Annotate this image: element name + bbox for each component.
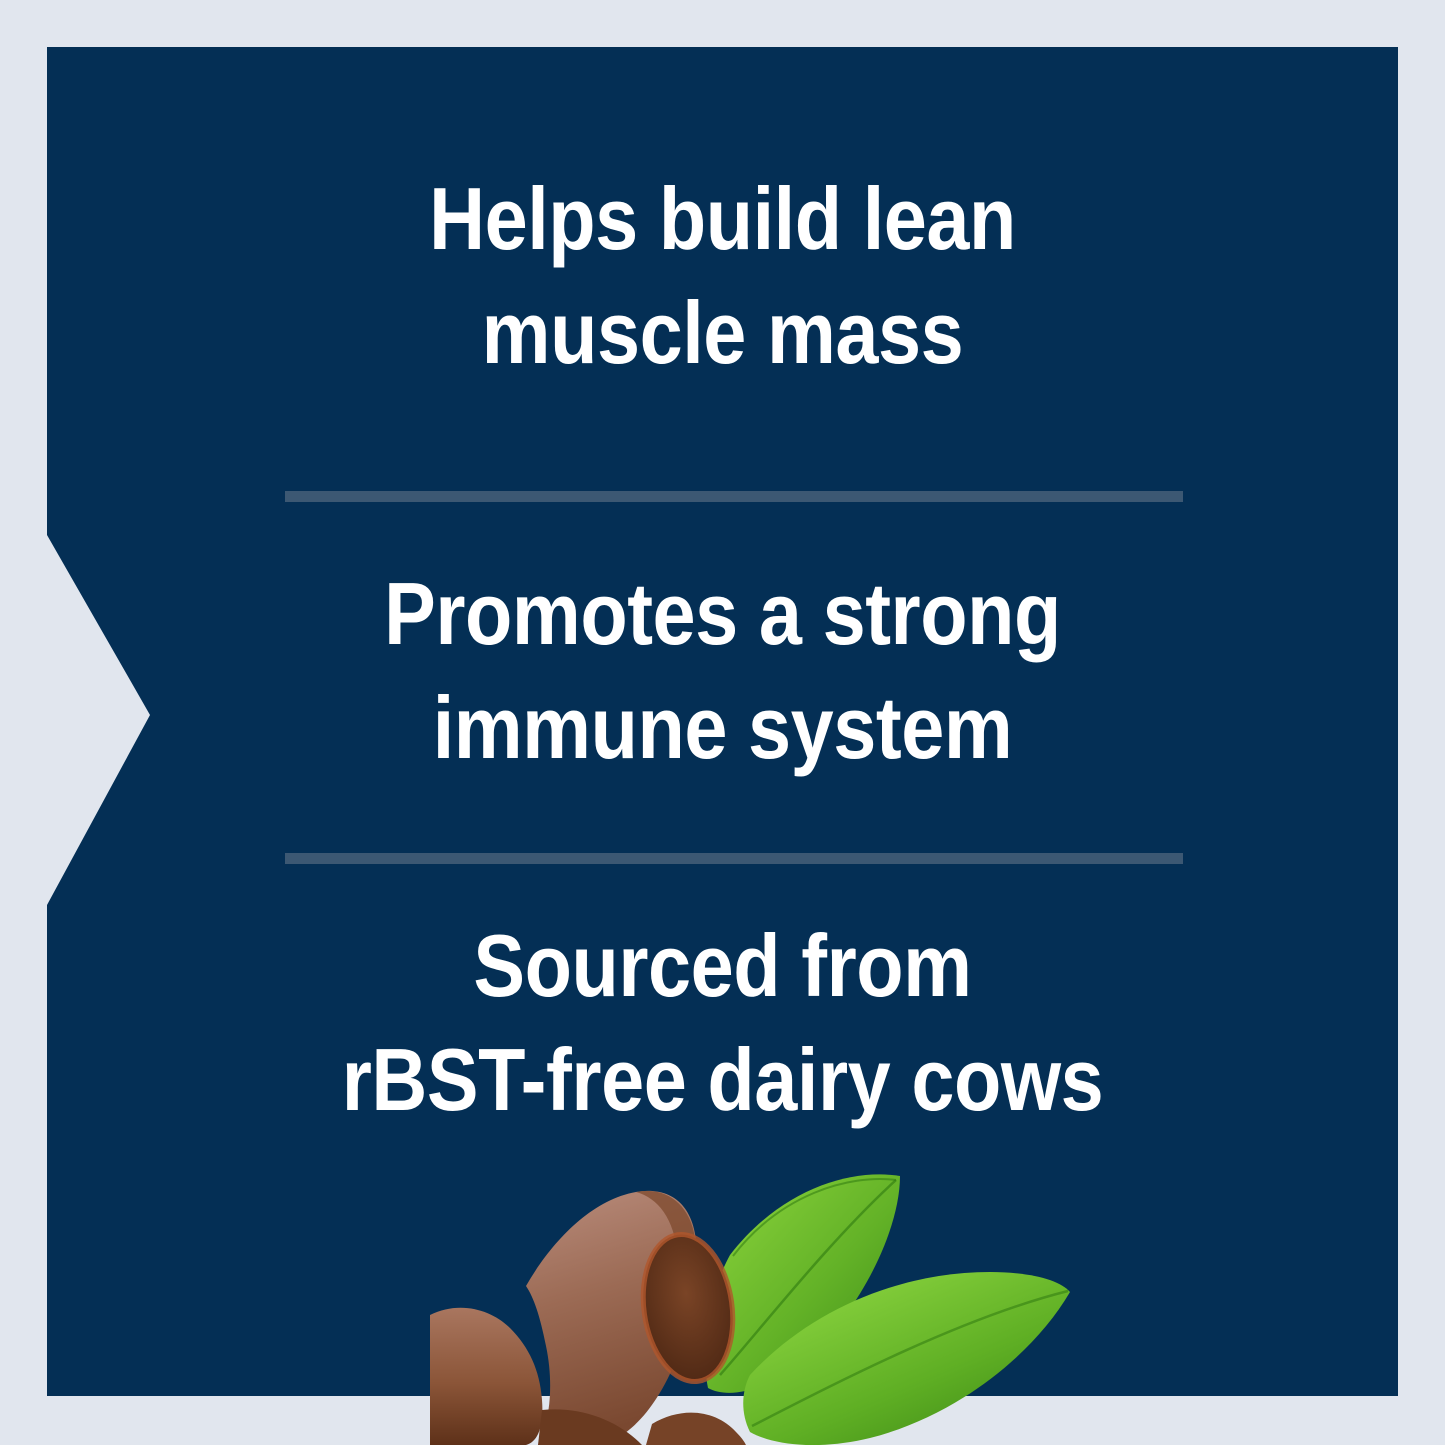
feature-panel-graphic: Helps build lean muscle mass Promotes a …: [0, 0, 1445, 1445]
benefits-content: Helps build lean muscle mass Promotes a …: [47, 47, 1398, 1396]
benefit-lean-muscle: Helps build lean muscle mass: [128, 162, 1317, 391]
benefit-immune-system: Promotes a strong immune system: [128, 557, 1317, 786]
benefit-divider-2: [285, 853, 1183, 864]
benefit-rbst-free: Sourced from rBST-free dairy cows: [128, 909, 1317, 1138]
benefit-divider-1: [285, 491, 1183, 502]
